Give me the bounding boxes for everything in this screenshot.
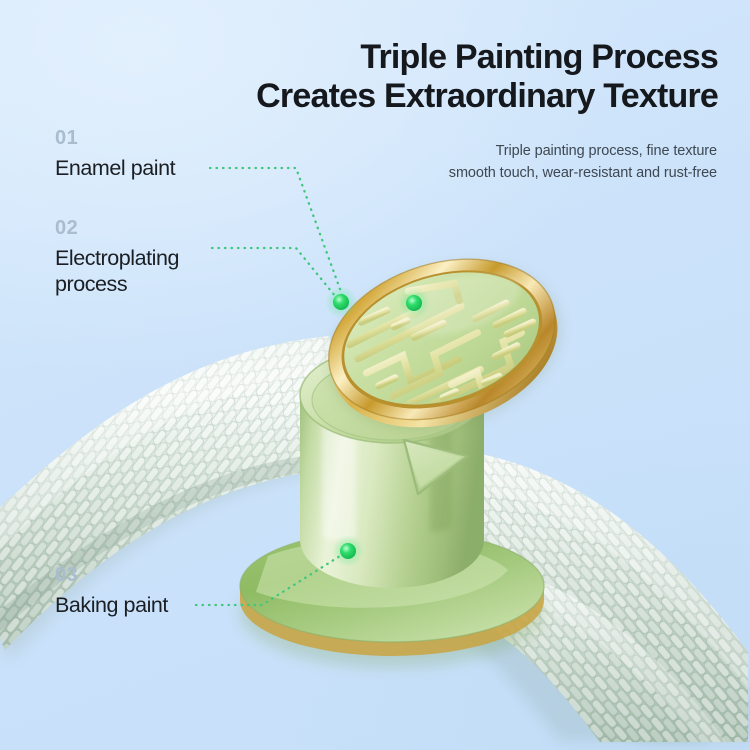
leader-line-01 [210,168,344,300]
callout-02: 02 Electroplating process [55,218,179,297]
callout-03-label: Baking paint [55,592,168,618]
title-line-1: Triple Painting Process [360,38,718,76]
subtitle-line-2: smooth touch, wear-resistant and rust-fr… [297,162,717,184]
marker-dot-02 [333,294,349,310]
callout-01-label: Enamel paint [55,155,175,181]
callout-02-label: Electroplating process [55,245,179,297]
page-title: Triple Painting Process Creates Extraord… [238,38,718,117]
page-subtitle: Triple painting process, fine texture sm… [297,140,717,185]
callout-02-number: 02 [55,218,179,238]
title-line-2: Creates Extraordinary Texture [238,77,718,116]
callout-01: 01 Enamel paint [55,128,175,181]
marker-dot-03 [340,543,356,559]
marker-dot-01 [406,295,422,311]
leader-line-02 [212,248,340,302]
callout-03-number: 03 [55,565,168,585]
subtitle-line-1: Triple painting process, fine texture [297,140,717,162]
callout-01-number: 01 [55,128,175,148]
product-feature-image: Triple Painting Process Creates Extraord… [0,0,750,750]
callout-03: 03 Baking paint [55,565,168,618]
